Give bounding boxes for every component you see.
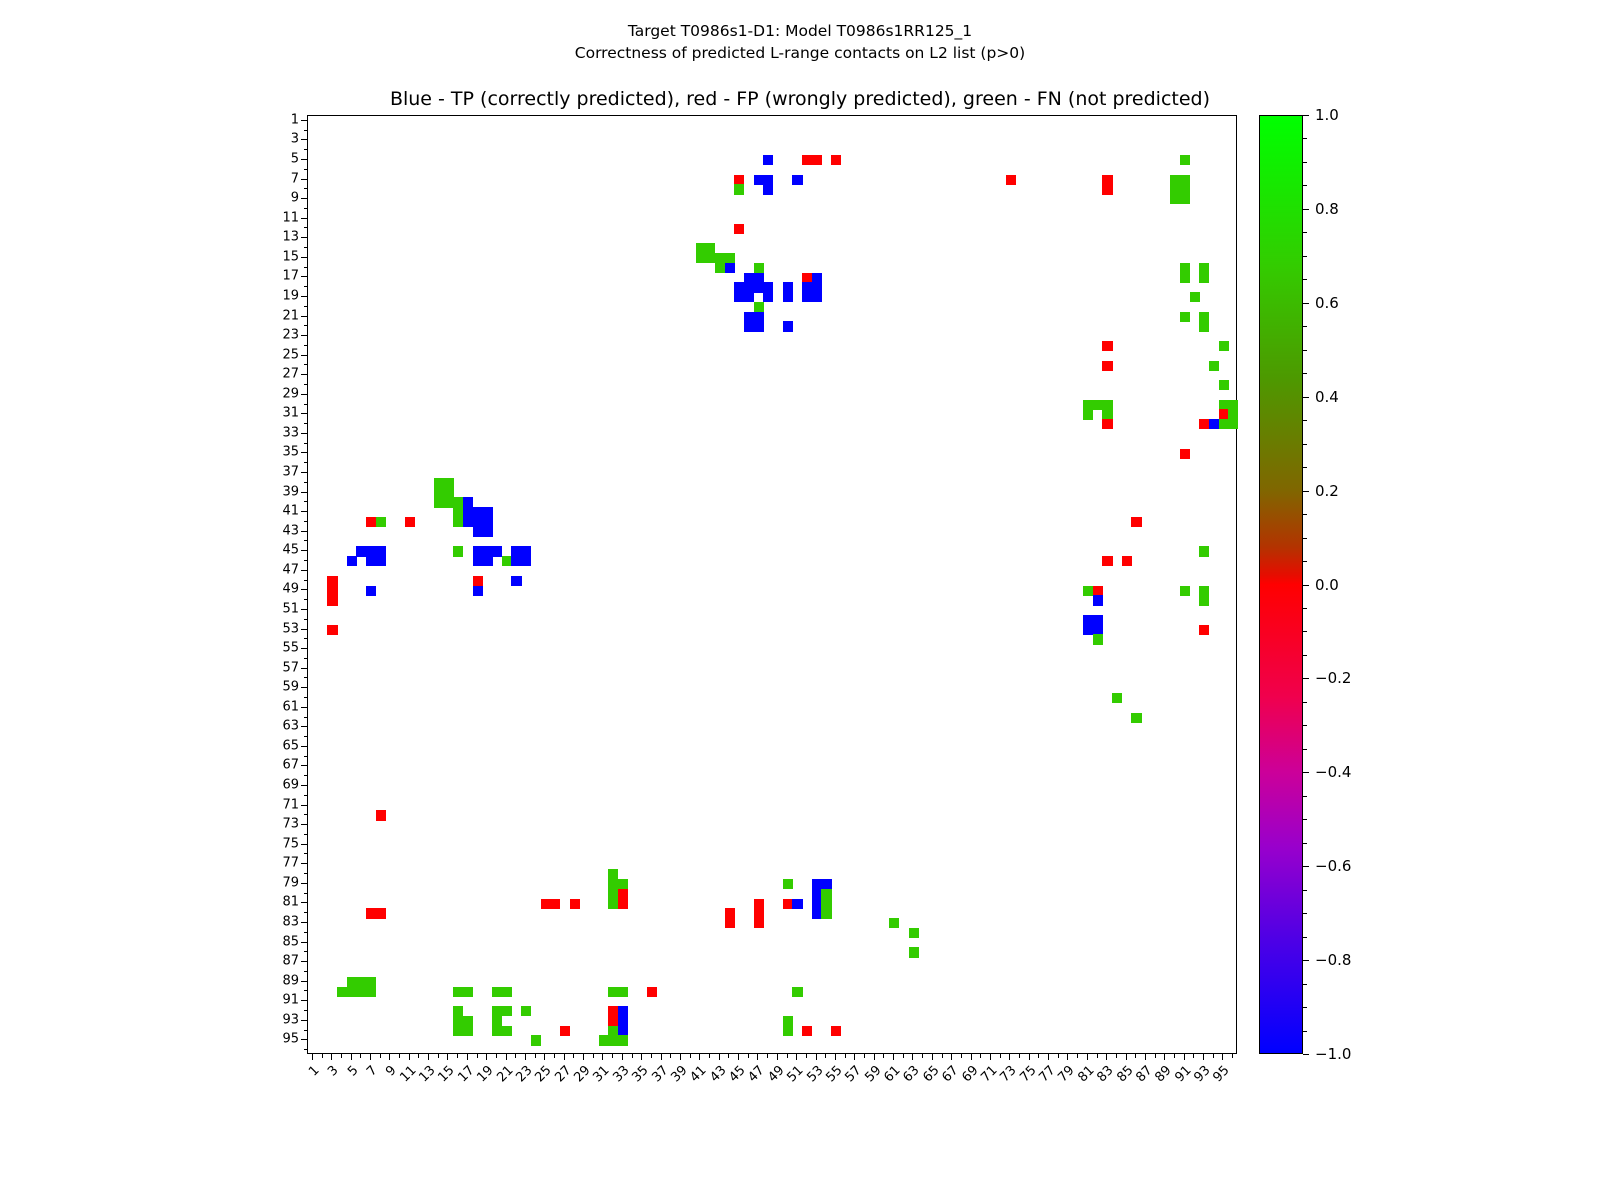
x-axis-tick (331, 1054, 332, 1060)
y-axis-tick-label: 15 (251, 249, 299, 264)
colorbar-minor-tick (1303, 796, 1307, 797)
x-axis-tick (738, 1054, 739, 1060)
y-axis-tick (304, 795, 308, 796)
contact-cell-fn (705, 243, 715, 253)
x-axis-tick (1000, 1054, 1001, 1058)
contact-cell-fp (366, 908, 376, 918)
y-axis-tick (301, 765, 307, 766)
x-axis-tick (447, 1054, 448, 1060)
contact-cell-fn (1180, 194, 1190, 204)
x-axis-tick (554, 1054, 555, 1058)
x-axis-tick (728, 1054, 729, 1058)
y-axis-tick (301, 785, 307, 786)
colorbar[interactable]: 1.00.80.60.40.20.0−0.2−0.4−0.6−0.8−1.0 (1259, 115, 1303, 1054)
y-axis-tick (304, 247, 308, 248)
contact-cell-fn (1102, 400, 1112, 410)
contact-cell-fn (618, 879, 628, 889)
x-axis-tick (1087, 1054, 1088, 1060)
contact-cell-fn (1093, 400, 1103, 410)
y-axis-tick-label: 7 (251, 171, 299, 186)
y-axis-tick (301, 257, 307, 258)
contact-cell-fn (1083, 400, 1093, 410)
colorbar-tick (1303, 772, 1309, 773)
colorbar-tick (1303, 585, 1309, 586)
contact-cell-tp (792, 899, 802, 909)
y-axis-tick-label: 37 (251, 465, 299, 480)
contact-cell-fn (608, 1026, 618, 1036)
contact-cell-tp (473, 556, 483, 566)
contact-cell-fp (618, 889, 628, 899)
x-axis-tick (1058, 1054, 1059, 1058)
x-axis-tick (602, 1054, 603, 1060)
y-axis-tick (301, 1000, 307, 1001)
x-axis-tick (1232, 1054, 1233, 1058)
y-axis-tick-label: 45 (251, 543, 299, 558)
y-axis-tick (304, 306, 308, 307)
colorbar-minor-tick (1303, 725, 1307, 726)
y-axis-tick-label: 63 (251, 719, 299, 734)
contact-cell-fp (802, 155, 812, 165)
colorbar-tick-label: −1.0 (1315, 1045, 1351, 1063)
x-axis-tick (1038, 1054, 1039, 1058)
y-axis-tick (304, 560, 308, 561)
contact-cell-fn (1112, 693, 1122, 703)
contact-cell-tp (763, 184, 773, 194)
contact-cell-fp (327, 625, 337, 635)
x-axis-tick (312, 1054, 313, 1060)
y-axis-tick (304, 149, 308, 150)
contact-cell-tp (366, 586, 376, 596)
contact-cell-fn (492, 1006, 502, 1016)
contact-cell-fn (376, 517, 386, 527)
contact-cell-tp (473, 527, 483, 537)
colorbar-minor-tick (1303, 913, 1307, 914)
contact-cell-tp (376, 556, 386, 566)
y-axis-tick-label: 65 (251, 738, 299, 753)
contact-cell-fp (734, 175, 744, 185)
contact-cell-fn (453, 987, 463, 997)
x-axis-tick (341, 1054, 342, 1058)
contact-cell-tp (618, 1016, 628, 1026)
y-axis-tick (304, 932, 308, 933)
colorbar-minor-tick (1303, 655, 1307, 656)
contact-cell-tp (802, 282, 812, 292)
contact-cell-fn (1219, 380, 1229, 390)
x-axis-tick (1155, 1054, 1156, 1058)
contact-cell-fp (570, 899, 580, 909)
contact-cell-fn (734, 184, 744, 194)
contact-cell-fn (1219, 419, 1229, 429)
contact-map-plot[interactable] (307, 115, 1237, 1054)
contact-cell-fn (453, 1016, 463, 1026)
contact-cell-tp (473, 517, 483, 527)
contact-cell-tp (347, 556, 357, 566)
x-axis-tick (1077, 1054, 1078, 1058)
y-axis-tick-label: 47 (251, 562, 299, 577)
contact-cell-tp (1209, 419, 1219, 429)
contact-cell-fn (909, 947, 919, 957)
x-axis-tick (680, 1054, 681, 1060)
x-axis-tick (1174, 1054, 1175, 1058)
y-axis-tick-label: 13 (251, 230, 299, 245)
contact-cell-fn (1083, 586, 1093, 596)
suptitle-line-1: Target T0986s1-D1: Model T0986s1RR125_1 (0, 20, 1600, 42)
y-axis-tick (301, 198, 307, 199)
contact-cell-tp (783, 321, 793, 331)
x-axis-tick (1164, 1054, 1165, 1060)
y-axis-tick-label: 9 (251, 191, 299, 206)
contact-cell-tp (1093, 615, 1103, 625)
colorbar-minor-tick (1303, 138, 1307, 139)
colorbar-tick-label: −0.2 (1315, 669, 1351, 687)
x-axis-tick (912, 1054, 913, 1060)
y-axis-tick (301, 668, 307, 669)
contact-cell-fn (608, 889, 618, 899)
y-axis-tick (301, 1039, 307, 1040)
y-axis-tick (301, 824, 307, 825)
colorbar-gradient (1259, 115, 1303, 1054)
x-axis-tick (942, 1054, 943, 1058)
y-axis-tick (301, 335, 307, 336)
x-axis-tick (816, 1054, 817, 1060)
contact-cell-fp (366, 517, 376, 527)
y-axis-tick (304, 990, 308, 991)
contact-cell-tp (463, 497, 473, 507)
y-axis-tick (301, 981, 307, 982)
contact-cell-fn (492, 987, 502, 997)
contact-cell-fn (1180, 175, 1190, 185)
contact-cell-fn (1083, 409, 1093, 419)
colorbar-tick-label: −0.6 (1315, 857, 1351, 875)
contact-cell-fp (1122, 556, 1132, 566)
colorbar-minor-tick (1303, 467, 1307, 468)
contact-cell-tp (618, 1006, 628, 1016)
contact-cell-fn (444, 478, 454, 488)
x-axis-tick (535, 1054, 536, 1058)
y-axis-tick (304, 814, 308, 815)
y-axis-tick (304, 658, 308, 659)
contact-cell-fn (453, 1006, 463, 1016)
y-axis-tick (304, 325, 308, 326)
contact-cell-fp (1199, 419, 1209, 429)
contact-cell-fp (783, 899, 793, 909)
y-axis-tick (301, 296, 307, 297)
contact-cell-fn (1199, 546, 1209, 556)
x-axis-tick (1135, 1054, 1136, 1058)
x-axis-tick (399, 1054, 400, 1058)
x-axis-tick (322, 1054, 323, 1058)
contact-cell-fp (754, 908, 764, 918)
contact-cell-fp (1102, 419, 1112, 429)
contact-cell-tp (734, 292, 744, 302)
y-axis-tick (301, 629, 307, 630)
y-axis-tick-label: 55 (251, 641, 299, 656)
x-axis-tick (835, 1054, 836, 1060)
y-axis-tick (301, 374, 307, 375)
contact-cell-tp (511, 576, 521, 586)
y-axis-tick (301, 120, 307, 121)
contact-cell-fp (405, 517, 415, 527)
x-axis-tick (670, 1054, 671, 1058)
contact-cell-fn (909, 928, 919, 938)
contact-cell-fp (473, 576, 483, 586)
x-axis-tick (486, 1054, 487, 1060)
contact-cell-tp (812, 273, 822, 283)
x-axis-tick (825, 1054, 826, 1058)
y-axis-tick-label: 67 (251, 758, 299, 773)
y-axis-tick (301, 648, 307, 649)
y-axis-tick-label: 35 (251, 445, 299, 460)
x-axis-tick (438, 1054, 439, 1058)
x-axis-tick (351, 1054, 352, 1060)
contact-cell-fp (327, 576, 337, 586)
y-axis-tick-label: 69 (251, 778, 299, 793)
colorbar-minor-tick (1303, 373, 1307, 374)
contact-cell-fn (502, 556, 512, 566)
x-axis-tick (360, 1054, 361, 1058)
contact-cell-fp (734, 224, 744, 234)
contact-cell-fn (492, 1026, 502, 1036)
colorbar-minor-tick (1303, 890, 1307, 891)
colorbar-tick (1303, 960, 1309, 961)
contact-cell-fn (715, 253, 725, 263)
contact-cell-tp (754, 321, 764, 331)
x-axis-tick (1145, 1054, 1146, 1060)
y-axis-tick-label: 27 (251, 367, 299, 382)
colorbar-minor-tick (1303, 326, 1307, 327)
x-axis-tick (632, 1054, 633, 1058)
contact-cell-tp (812, 282, 822, 292)
y-axis-tick-label: 59 (251, 680, 299, 695)
contact-cell-tp (511, 556, 521, 566)
colorbar-minor-tick (1303, 279, 1307, 280)
contact-cell-fn (453, 497, 463, 507)
contact-cell-tp (812, 899, 822, 909)
x-axis-tick (1106, 1054, 1107, 1060)
x-axis-tick (651, 1054, 652, 1058)
contact-cell-tp (763, 175, 773, 185)
contact-cell-fn (783, 1016, 793, 1026)
y-axis-tick (304, 1010, 308, 1011)
contact-cell-tp (1083, 615, 1093, 625)
y-axis-tick (304, 834, 308, 835)
colorbar-tick (1303, 209, 1309, 210)
y-axis-tick (304, 736, 308, 737)
contact-cell-fn (696, 243, 706, 253)
y-axis-tick (301, 589, 307, 590)
contact-cell-fn (608, 987, 618, 997)
contact-cell-tp (376, 546, 386, 556)
contact-cell-fp (1102, 556, 1112, 566)
y-axis-tick (301, 355, 307, 356)
y-axis-tick-label: 73 (251, 817, 299, 832)
y-axis-tick-label: 81 (251, 895, 299, 910)
contact-cell-fn (502, 987, 512, 997)
y-axis-tick (304, 873, 308, 874)
contact-cell-fn (1180, 273, 1190, 283)
colorbar-minor-tick (1303, 1031, 1307, 1032)
y-axis-tick-label: 43 (251, 523, 299, 538)
contact-cell-fn (356, 977, 366, 987)
colorbar-tick (1303, 866, 1309, 867)
y-axis-tick (301, 687, 307, 688)
x-axis-tick (796, 1054, 797, 1060)
contact-cell-fn (444, 488, 454, 498)
contact-cell-tp (618, 1026, 628, 1036)
y-axis-tick (304, 853, 308, 854)
y-axis-tick (301, 237, 307, 238)
colorbar-tick (1303, 115, 1309, 116)
x-axis-tick (525, 1054, 526, 1060)
contact-cell-tp (521, 556, 531, 566)
contact-cell-fn (608, 879, 618, 889)
y-axis-tick (304, 1030, 308, 1031)
contact-cell-fp (754, 899, 764, 909)
y-axis-tick-label: 17 (251, 269, 299, 284)
contact-cell-fn (1102, 409, 1112, 419)
y-axis-tick-label: 5 (251, 152, 299, 167)
contact-cell-fn (1199, 595, 1209, 605)
contact-cell-fp (1102, 361, 1112, 371)
x-axis-tick (389, 1054, 390, 1060)
contact-cell-fn (453, 507, 463, 517)
x-axis-tick (709, 1054, 710, 1058)
contact-cell-fp (376, 810, 386, 820)
colorbar-minor-tick (1303, 749, 1307, 750)
contact-cell-fp (1102, 341, 1112, 351)
y-axis-tick (301, 511, 307, 512)
x-axis-tick (641, 1054, 642, 1060)
contact-cell-fn (608, 899, 618, 909)
contact-cell-tp (473, 546, 483, 556)
y-axis-tick-label: 85 (251, 934, 299, 949)
y-axis-tick-label: 25 (251, 347, 299, 362)
suptitle-line-2: Correctness of predicted L-range contact… (0, 42, 1600, 64)
contact-cell-tp (783, 282, 793, 292)
contact-cell-fp (560, 1026, 570, 1036)
x-axis-tick (961, 1054, 962, 1058)
contact-cell-fp (550, 899, 560, 909)
y-axis-tick (301, 609, 307, 610)
contact-cell-fn (366, 977, 376, 987)
x-axis-tick (370, 1054, 371, 1060)
contact-map-cells (308, 116, 1236, 1053)
contact-cell-fn (1199, 321, 1209, 331)
y-axis-tick (304, 130, 308, 131)
contact-cell-fn (463, 1016, 473, 1026)
colorbar-tick (1303, 303, 1309, 304)
colorbar-tick-label: 0.0 (1315, 576, 1339, 594)
x-axis-tick (719, 1054, 720, 1060)
contact-cell-tp (366, 556, 376, 566)
contact-cell-tp (482, 517, 492, 527)
contact-cell-tp (482, 507, 492, 517)
x-axis-tick (409, 1054, 410, 1060)
colorbar-minor-tick (1303, 256, 1307, 257)
x-axis-tick (380, 1054, 381, 1058)
y-axis-tick (304, 267, 308, 268)
contact-cell-tp (725, 263, 735, 273)
x-axis-tick (1184, 1054, 1185, 1060)
x-axis-tick (864, 1054, 865, 1058)
contact-cell-fn (1093, 634, 1103, 644)
colorbar-minor-tick (1303, 984, 1307, 985)
x-axis-tick (544, 1054, 545, 1060)
y-axis-tick (304, 619, 308, 620)
y-axis-tick (304, 775, 308, 776)
x-axis-tick (787, 1054, 788, 1058)
y-axis-tick (304, 364, 308, 365)
contact-cell-fn (453, 1026, 463, 1036)
contact-cell-fn (1199, 312, 1209, 322)
y-axis-tick (304, 951, 308, 952)
contact-cell-fn (434, 497, 444, 507)
contact-cell-fn (618, 1035, 628, 1045)
y-axis-tick-label: 33 (251, 425, 299, 440)
colorbar-minor-tick (1303, 444, 1307, 445)
contact-cell-fn (608, 869, 618, 879)
y-axis-tick (301, 805, 307, 806)
contact-cell-tp (763, 282, 773, 292)
y-axis-tick-label: 19 (251, 288, 299, 303)
contact-cell-tp (754, 273, 764, 283)
contact-cell-fn (434, 478, 444, 488)
y-axis-tick (304, 384, 308, 385)
colorbar-tick-label: 0.6 (1315, 294, 1339, 312)
y-axis-tick (301, 394, 307, 395)
contact-cell-fn (618, 987, 628, 997)
y-axis-tick-label: 23 (251, 328, 299, 343)
x-axis-tick (418, 1054, 419, 1058)
y-axis-tick (304, 423, 308, 424)
x-axis-tick (1019, 1054, 1020, 1058)
axes-title: Blue - TP (correctly predicted), red - F… (0, 88, 1600, 110)
y-axis-tick (304, 443, 308, 444)
colorbar-minor-tick (1303, 491, 1307, 492)
x-axis-tick (477, 1054, 478, 1058)
contact-cell-fp (802, 1026, 812, 1036)
contact-cell-fn (1219, 341, 1229, 351)
colorbar-tick (1303, 1054, 1309, 1055)
x-axis-tick (1126, 1054, 1127, 1060)
contact-cell-fn (366, 987, 376, 997)
y-axis-tick (301, 844, 307, 845)
colorbar-minor-tick (1303, 397, 1307, 398)
colorbar-minor-tick (1303, 232, 1307, 233)
x-axis-tick (622, 1054, 623, 1060)
colorbar-minor-tick (1303, 608, 1307, 609)
x-axis-tick (515, 1054, 516, 1058)
y-axis-tick-label: 93 (251, 1012, 299, 1027)
contact-cell-fn (453, 517, 463, 527)
contact-cell-fp (1093, 586, 1103, 596)
contact-cell-tp (366, 546, 376, 556)
contact-cell-fp (812, 155, 822, 165)
contact-cell-fn (725, 253, 735, 263)
y-axis-tick-label: 71 (251, 797, 299, 812)
y-axis-tick (301, 531, 307, 532)
x-axis-tick (699, 1054, 700, 1060)
contact-cell-fn (521, 1006, 531, 1016)
contact-cell-fp (1131, 517, 1141, 527)
contact-cell-fn (754, 263, 764, 273)
figure-suptitle: Target T0986s1-D1: Model T0986s1RR125_1 … (0, 20, 1600, 64)
contact-cell-tp (763, 292, 773, 302)
x-axis-tick (951, 1054, 952, 1060)
y-axis-tick (304, 912, 308, 913)
y-axis-tick (301, 942, 307, 943)
contact-cell-fn (1170, 175, 1180, 185)
